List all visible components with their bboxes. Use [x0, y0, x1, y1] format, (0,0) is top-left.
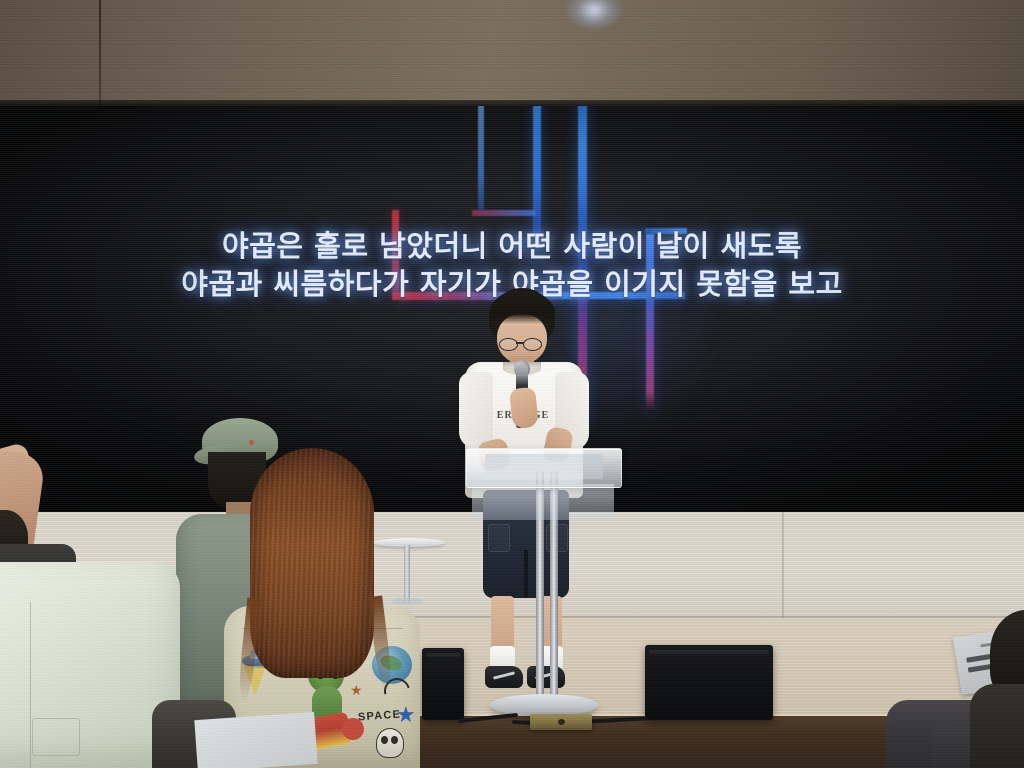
- woman-hair: [250, 448, 374, 678]
- speaker-glasses-right: [523, 338, 542, 351]
- monitor-grill-left: [426, 653, 460, 657]
- audience-foreground-right: [964, 610, 1024, 768]
- wall-panel-seam: [99, 0, 101, 106]
- floor-box-port: [558, 719, 565, 725]
- speaker-hair-fringe: [489, 290, 555, 324]
- upper-wood-wall: [0, 0, 1024, 106]
- podium-base: [490, 694, 598, 716]
- monitor-grill-right: [649, 650, 769, 654]
- star-icon-2: ★: [396, 702, 416, 728]
- shirt-pocket: [32, 718, 80, 756]
- acrylic-podium: [466, 448, 620, 720]
- skull-icon: [376, 728, 404, 758]
- skull-eye-left-icon: [381, 736, 388, 744]
- speaker-glasses-bridge: [516, 342, 524, 344]
- cap-logo: [249, 440, 254, 445]
- foreground-right-body: [970, 684, 1024, 768]
- star-icon-3: ★: [350, 682, 363, 699]
- stage-monitor-left: [422, 648, 464, 720]
- speaker-sleeve-left: [459, 372, 493, 448]
- podium-top: [466, 448, 622, 488]
- paper-sheet: [194, 712, 317, 768]
- podium-top-inset: [485, 454, 603, 479]
- photo-scene: 야곱은 홀로 남았더니 어떤 사람이 날이 새도록 야곱과 씨름하다가 자기가 …: [0, 0, 1024, 768]
- lower-wall-seam-vertical: [782, 512, 784, 618]
- shirt-seam: [30, 602, 31, 768]
- skull-eye-right-icon: [391, 736, 398, 744]
- podium-apron: [472, 484, 614, 520]
- speaker-glasses-left: [499, 338, 518, 351]
- stage-monitor-right: [645, 645, 773, 720]
- doodle-text-space: SPACE: [358, 709, 402, 724]
- speaker-hand: [509, 387, 539, 429]
